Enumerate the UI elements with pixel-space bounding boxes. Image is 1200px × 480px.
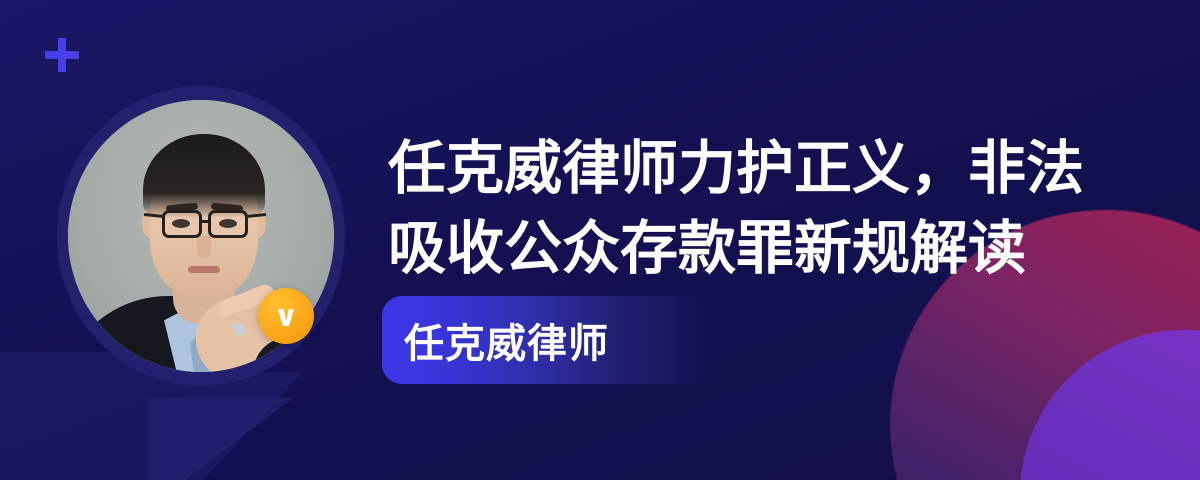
- author-badge[interactable]: 任克威律师: [382, 296, 712, 384]
- author-name: 任克威律师: [404, 311, 609, 369]
- avatar: [57, 86, 345, 386]
- plus-icon: [45, 38, 79, 72]
- decor-triangle: [148, 398, 293, 480]
- video-cover-banner: 任克威律师 任克威律师力护正义，非法吸收公众存款罪新规解读: [0, 0, 1200, 480]
- verified-badge-icon: [258, 288, 314, 344]
- page-title: 任克威律师力护正义，非法吸收公众存款罪新规解读: [388, 128, 1088, 288]
